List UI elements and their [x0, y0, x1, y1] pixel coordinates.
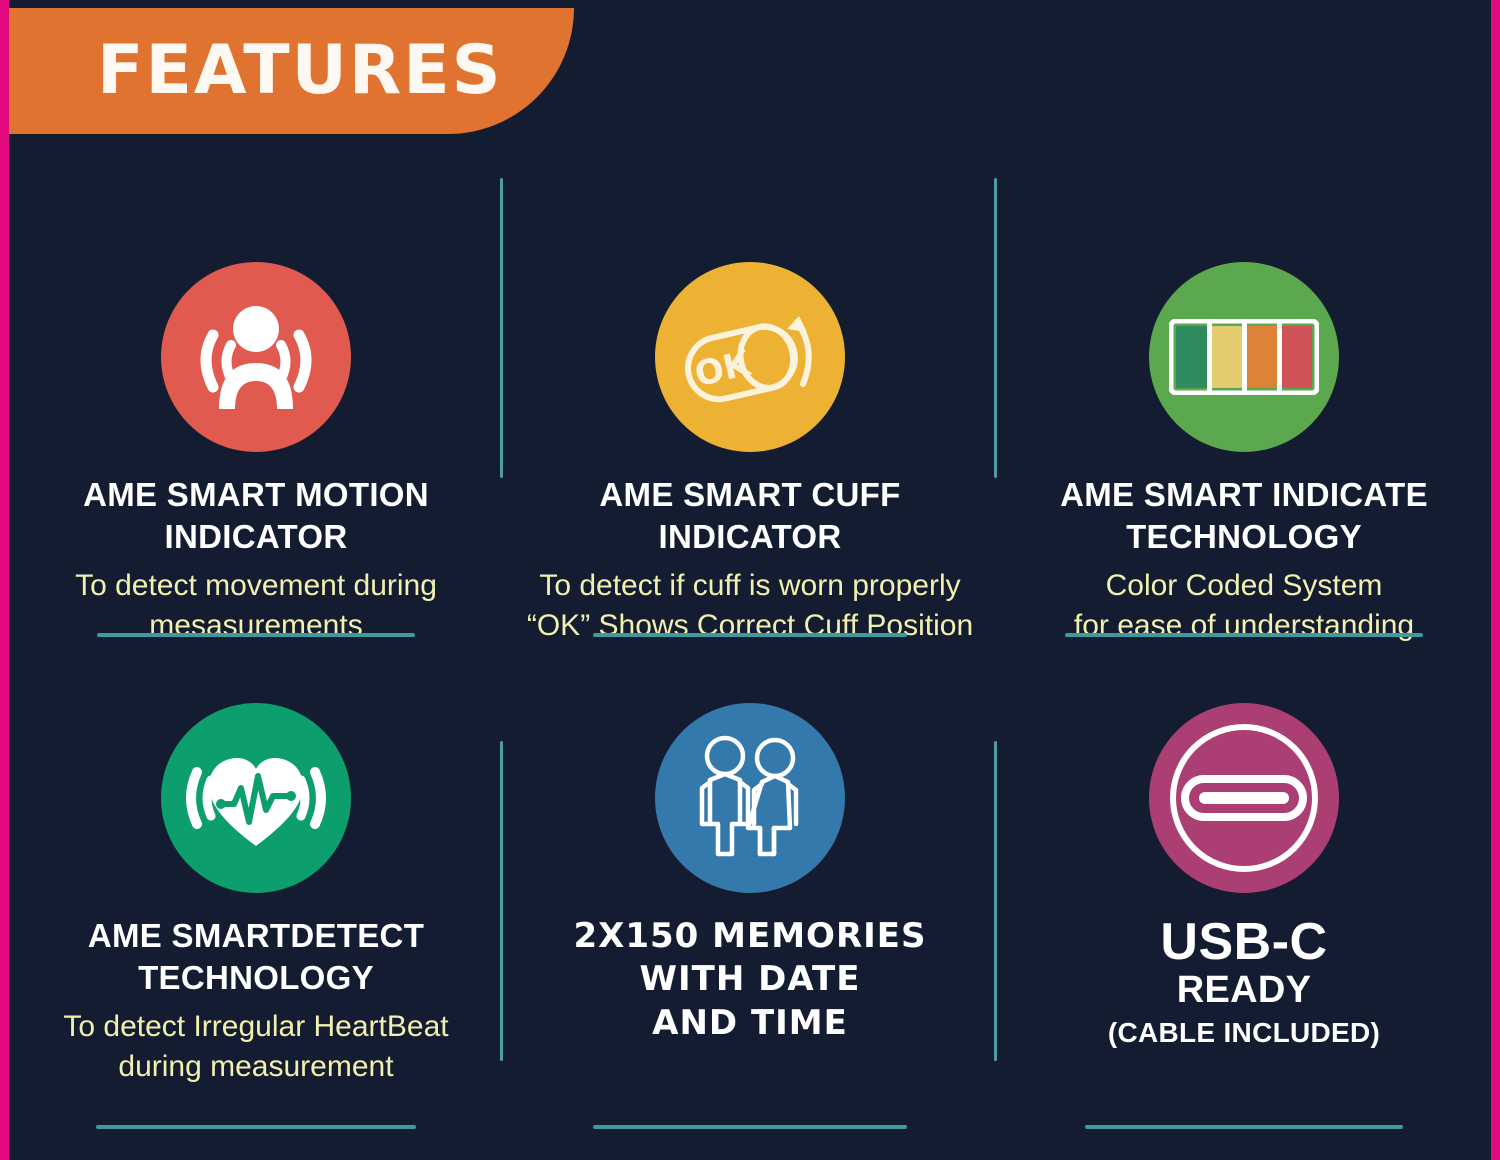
feature-card-smartdetect: AME SMARTDETECT TECHNOLOGY To detect Irr… — [9, 653, 503, 1156]
two-users-icon — [655, 703, 845, 893]
feature-subtitle-line1: To detect movement during — [75, 569, 437, 602]
feature-title-line1: 2X150 MEMORIES — [573, 916, 926, 956]
feature-subtitle-line1: To detect Irregular HeartBeat — [63, 1010, 448, 1043]
features-banner: FEATURES — [9, 8, 574, 134]
svg-text:OK: OK — [691, 343, 755, 395]
feature-title: AME SMARTDETECT TECHNOLOGY — [41, 915, 471, 999]
color-coded-bars-icon — [1149, 262, 1339, 452]
feature-title: AME SMART MOTION INDICATOR — [41, 474, 471, 558]
feature-title: AME SMART CUFF INDICATOR — [535, 474, 965, 558]
cuff-ok-rotate-icon: OK — [655, 262, 845, 452]
feature-subtitle-line2: “OK” Shows Correct Cuff Position — [527, 609, 973, 642]
feature-subtitle-line2: mesasurements — [149, 609, 362, 642]
feature-card-smart-motion: AME SMART MOTION INDICATOR To detect mov… — [9, 150, 503, 653]
feature-card-smart-cuff: OK AME SMART CUFF INDICATOR To detect if… — [503, 150, 997, 653]
page-title: FEATURES — [97, 37, 503, 105]
right-edge-strip — [1491, 0, 1500, 1160]
usb-c-connector-icon — [1149, 703, 1339, 893]
feature-card-memories: 2X150 MEMORIES WITH DATE AND TIME — [503, 653, 997, 1156]
feature-subtitle-line2: during measurement — [118, 1050, 393, 1083]
feature-card-usb-c: USB-C READY (CABLE INCLUDED) — [997, 653, 1491, 1156]
left-edge-strip — [0, 0, 9, 1160]
feature-title-sub: READY — [1177, 969, 1312, 1013]
motion-person-waves-icon — [161, 262, 351, 452]
feature-subtitle-line2: for ease of understanding — [1074, 609, 1414, 642]
feature-title: AME SMART INDICATE TECHNOLOGY — [1029, 474, 1459, 558]
feature-underline — [1085, 1125, 1403, 1129]
feature-subtitle-line1: Color Coded System — [1106, 569, 1383, 602]
feature-card-smart-indicate: AME SMART INDICATE TECHNOLOGY Color Code… — [997, 150, 1491, 653]
heart-pulse-waves-icon — [161, 703, 351, 893]
feature-subtitle: To detect Irregular HeartBeat during mea… — [63, 1007, 448, 1086]
feature-title-line2: WITH DATE — [640, 959, 861, 999]
feature-title-line3: AND TIME — [652, 1003, 848, 1043]
feature-underline — [1065, 633, 1423, 637]
feature-title: 2X150 MEMORIES WITH DATE AND TIME — [573, 915, 926, 1046]
feature-subtitle-line1: To detect if cuff is worn properly — [539, 569, 960, 602]
feature-title-main: USB-C — [1160, 915, 1327, 970]
feature-underline — [96, 1125, 416, 1129]
feature-underline — [97, 633, 415, 637]
feature-title-note: (CABLE INCLUDED) — [1108, 1017, 1380, 1049]
feature-underline — [593, 633, 907, 637]
infographic-page: FEATURES AME SMART MOTION INDICATOR To d… — [0, 0, 1500, 1160]
feature-underline — [593, 1125, 907, 1129]
features-grid: AME SMART MOTION INDICATOR To detect mov… — [9, 150, 1491, 1155]
